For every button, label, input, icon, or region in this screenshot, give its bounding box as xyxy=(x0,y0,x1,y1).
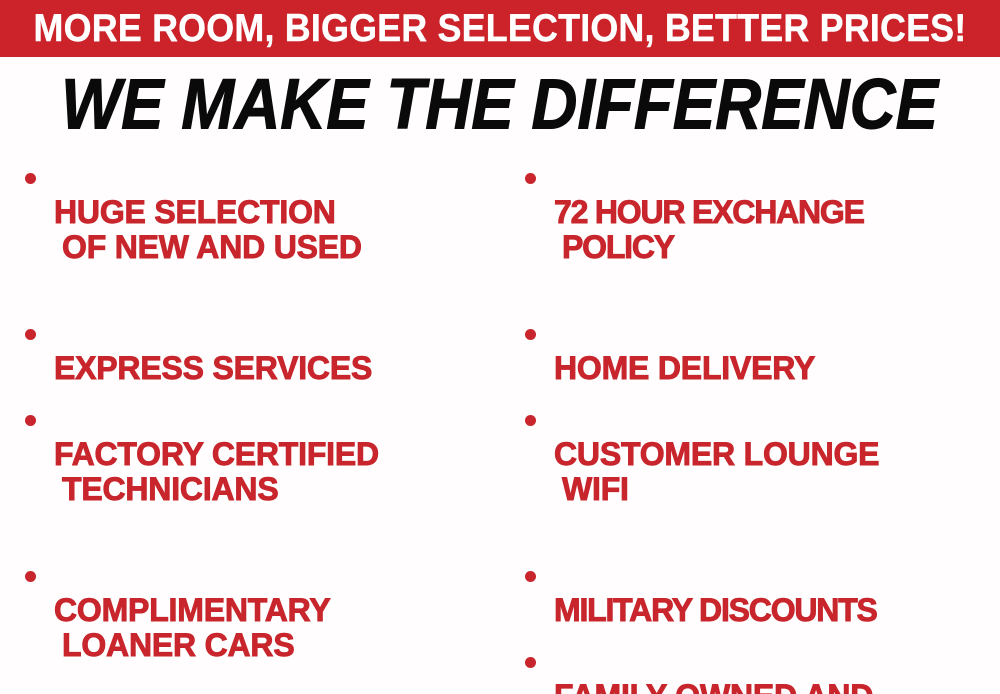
bullet-dot-icon xyxy=(25,329,36,340)
bullet-dot-icon xyxy=(525,657,536,668)
list-item-label: FACTORY CERTIFIED TECHNICIANS xyxy=(54,402,500,542)
list-item-line-2: TECHNICIANS xyxy=(54,472,500,507)
list-item-line-1: COMPLIMENTARY xyxy=(54,592,331,628)
list-item-label: MILITARY DISCOUNTS xyxy=(554,558,1000,628)
bullet-dot-icon xyxy=(525,329,536,340)
bullet-dot-icon xyxy=(525,571,536,582)
list-item: MILITARY DISCOUNTS xyxy=(518,558,1000,628)
main-headline: WE MAKE THE DIFFERENCE xyxy=(62,68,939,139)
list-item-line-1: CUSTOMER LOUNGE xyxy=(554,436,879,472)
list-item-line-1: HUGE SELECTION xyxy=(54,194,336,230)
list-item-line-1: 72 HOUR EXCHANGE xyxy=(554,194,864,230)
list-item: EXPRESS SERVICES xyxy=(18,316,500,386)
list-item-line-2: WIFI xyxy=(554,472,1000,507)
list-item-line-1: EXPRESS SERVICES xyxy=(54,350,372,386)
list-item-line-2: POLICY xyxy=(554,230,1000,265)
bullet-dot-icon xyxy=(25,571,36,582)
bullet-dot-icon xyxy=(525,173,536,184)
benefits-column-left: HUGE SELECTION OF NEW AND USED EXPRESS S… xyxy=(18,160,500,694)
list-item-label: HOME DELIVERY xyxy=(554,316,1000,386)
list-item-line-1: FACTORY CERTIFIED xyxy=(54,436,379,472)
bullet-dot-icon xyxy=(25,415,36,426)
list-item-label: COMPLIMENTARY LOANER CARS xyxy=(54,558,500,694)
list-item-line-1: FAMILY OWNED AND xyxy=(554,678,873,694)
list-item-line-2: OF NEW AND USED xyxy=(54,230,500,265)
list-item: FAMILY OWNED AND OPERATED xyxy=(518,644,1000,694)
benefits-column-right: 72 HOUR EXCHANGE POLICY HOME DELIVERY CU… xyxy=(518,160,1000,694)
list-item: FACTORY CERTIFIED TECHNICIANS xyxy=(18,402,500,542)
list-item: HOME DELIVERY xyxy=(518,316,1000,386)
list-item: CUSTOMER LOUNGE WIFI xyxy=(518,402,1000,542)
list-item-label: EXPRESS SERVICES xyxy=(54,316,500,386)
benefits-columns: HUGE SELECTION OF NEW AND USED EXPRESS S… xyxy=(0,160,1000,694)
list-item-label: HUGE SELECTION OF NEW AND USED xyxy=(54,160,500,300)
top-banner: MORE ROOM, BIGGER SELECTION, BETTER PRIC… xyxy=(0,0,1000,57)
headline-container: WE MAKE THE DIFFERENCE xyxy=(0,60,1000,148)
banner-headline-text: MORE ROOM, BIGGER SELECTION, BETTER PRIC… xyxy=(34,9,967,48)
promotional-poster: MORE ROOM, BIGGER SELECTION, BETTER PRIC… xyxy=(0,0,1000,694)
list-item-line-2: LOANER CARS xyxy=(54,628,500,663)
list-item: 72 HOUR EXCHANGE POLICY xyxy=(518,160,1000,300)
list-item-line-1: HOME DELIVERY xyxy=(554,350,815,386)
list-item-label: FAMILY OWNED AND OPERATED xyxy=(554,644,1000,694)
list-item-label: 72 HOUR EXCHANGE POLICY xyxy=(554,160,1000,300)
list-item-label: CUSTOMER LOUNGE WIFI xyxy=(554,402,1000,542)
bullet-dot-icon xyxy=(25,173,36,184)
list-item-line-1: MILITARY DISCOUNTS xyxy=(554,592,877,628)
list-item: HUGE SELECTION OF NEW AND USED xyxy=(18,160,500,300)
list-item: COMPLIMENTARY LOANER CARS xyxy=(18,558,500,694)
bullet-dot-icon xyxy=(525,415,536,426)
